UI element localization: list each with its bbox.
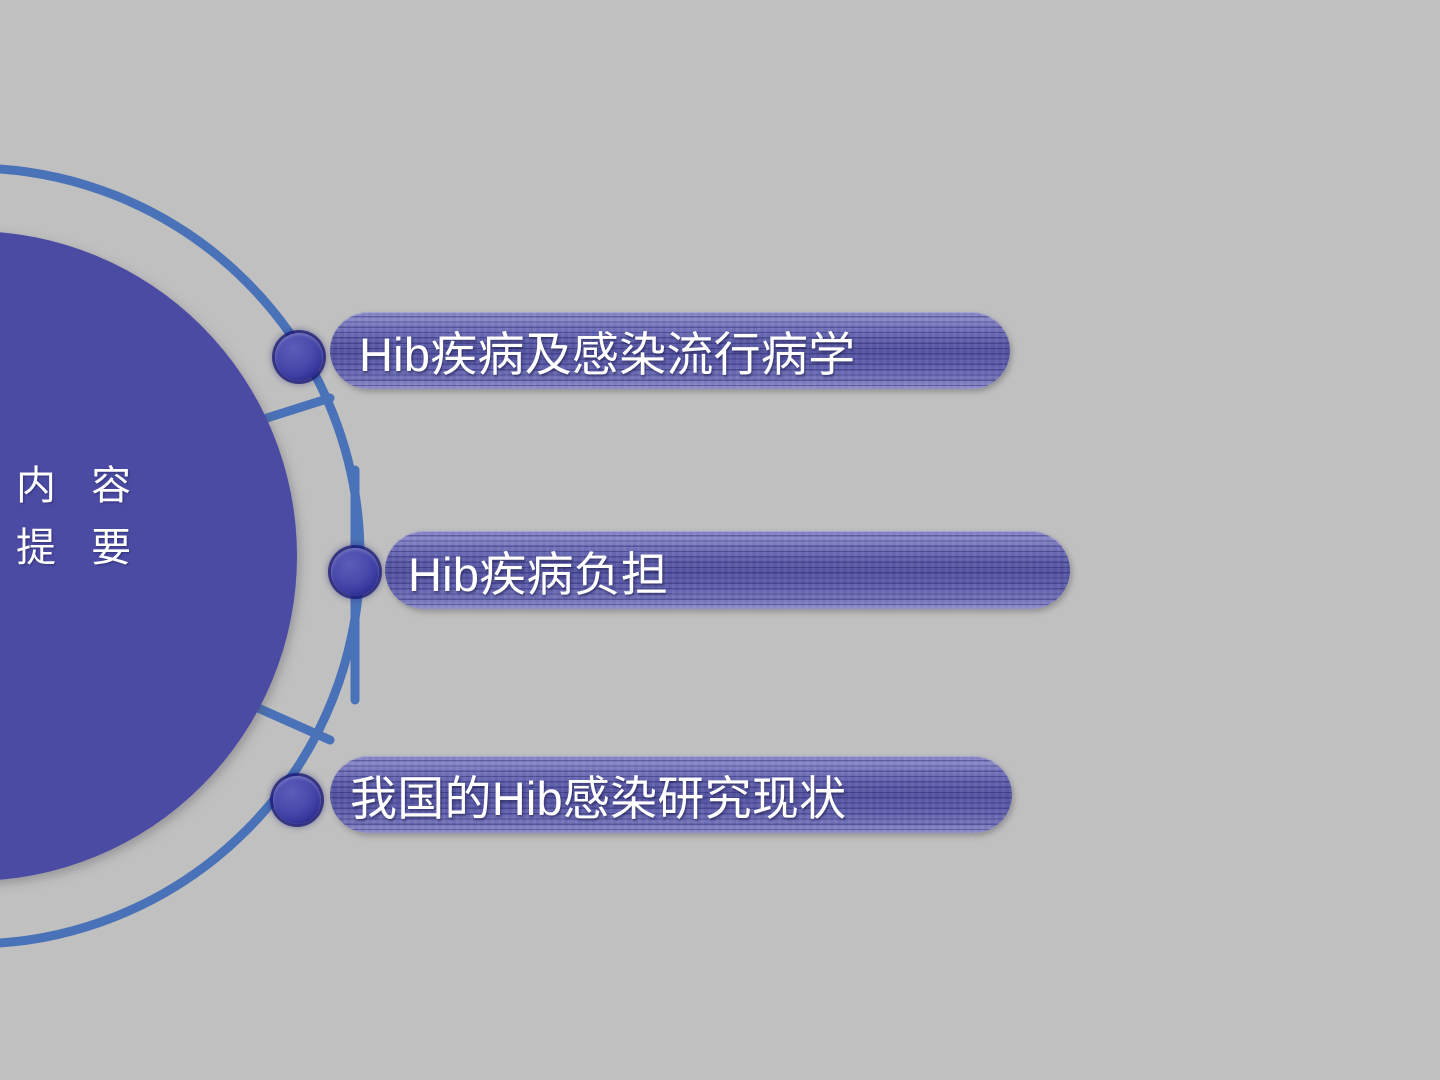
bullet-node-2: [331, 548, 379, 596]
content-outline-label-line-1: 内 容: [16, 455, 246, 517]
content-outline-label-line-2: 提 要: [16, 517, 246, 579]
bullet-node-3: [273, 776, 321, 824]
agenda-item-2-label: Hib疾病负担: [385, 531, 668, 609]
agenda-item-3[interactable]: 我国的Hib感染研究现状: [330, 756, 1012, 833]
agenda-item-1[interactable]: Hib疾病及感染流行病学: [330, 312, 1010, 389]
bullet-node-1: [275, 333, 323, 381]
content-outline-label: 内 容 提 要: [16, 455, 246, 579]
agenda-item-2[interactable]: Hib疾病负担: [385, 531, 1070, 609]
presentation-slide: 内 容 提 要 Hib疾病及感染流行病学 Hib疾病负担 我国的Hib感染研究现…: [0, 0, 1440, 1080]
agenda-item-1-label: Hib疾病及感染流行病学: [330, 312, 855, 389]
agenda-item-3-label: 我国的Hib感染研究现状: [330, 756, 846, 833]
